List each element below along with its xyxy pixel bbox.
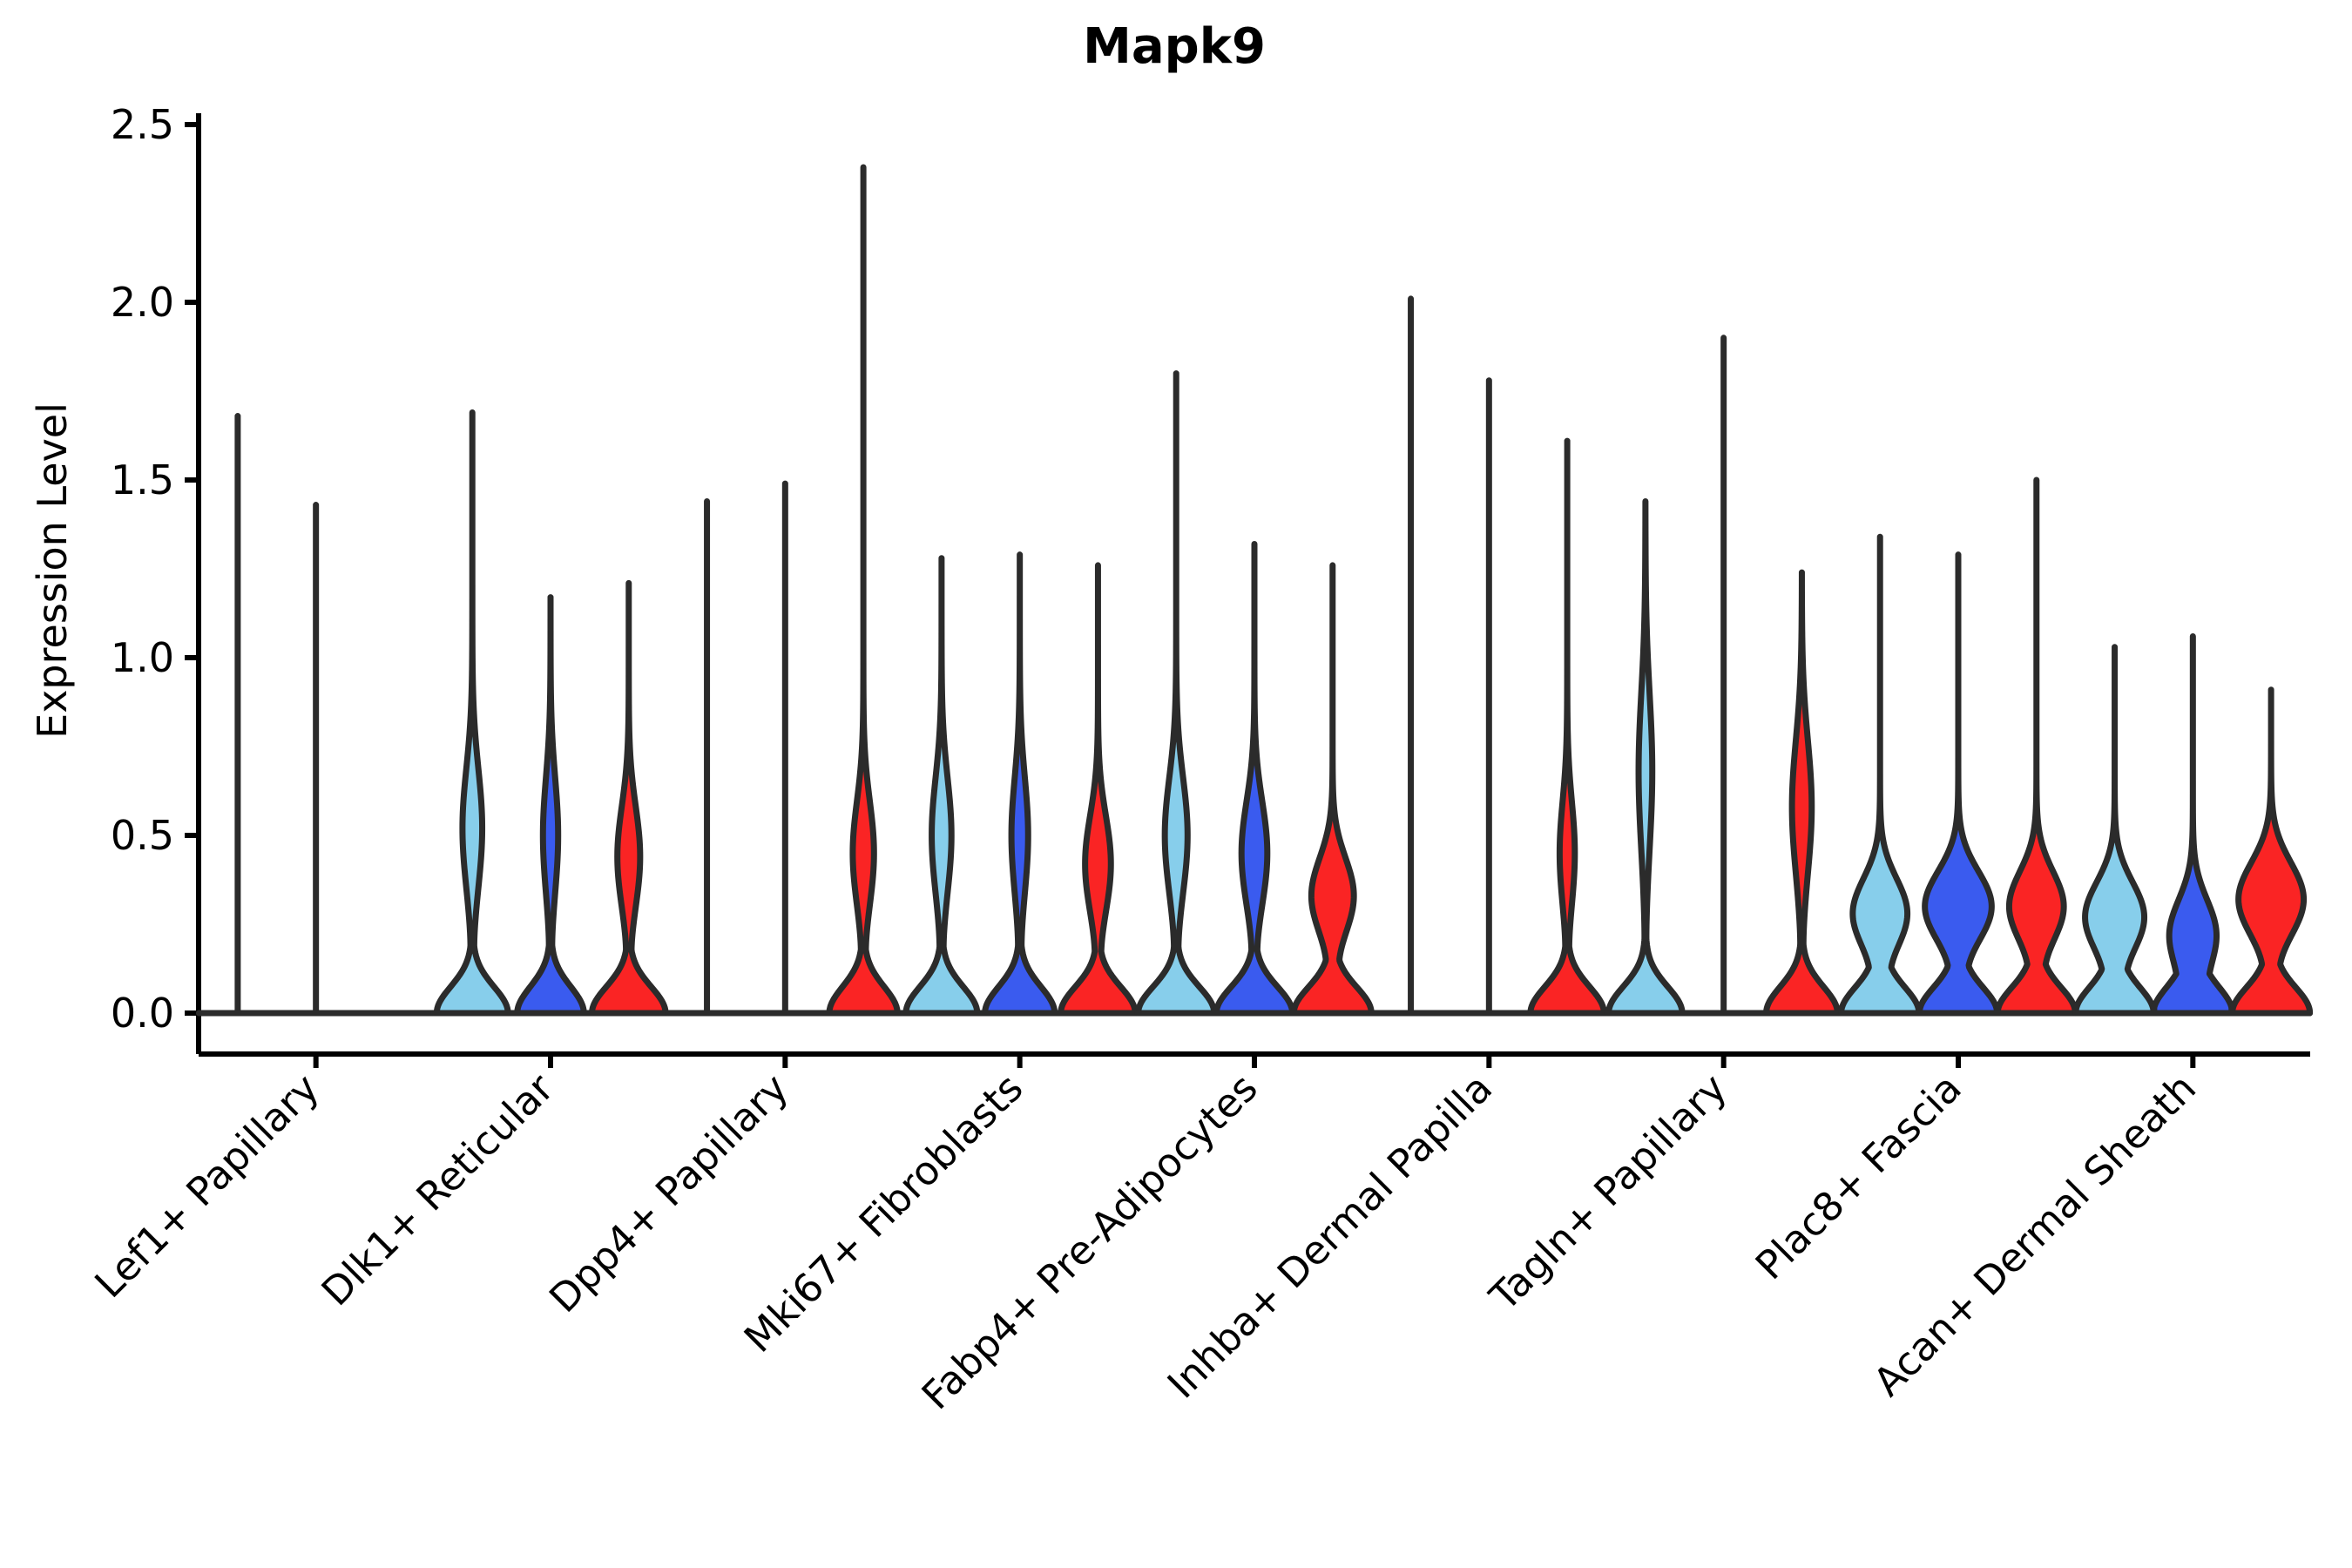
x-tick-label: Lef1+ Papillary <box>86 1064 328 1307</box>
y-tick-label: 2.0 <box>111 279 174 326</box>
violin-plot-svg: Mapk9 Expression Level 0.00.51.01.52.02.… <box>0 0 2352 1568</box>
y-axis-group: 0.00.51.01.52.02.5 <box>111 101 199 1054</box>
y-tick-label: 1.5 <box>111 456 174 504</box>
violin-shape[interactable] <box>1061 565 1135 1013</box>
violin-shape[interactable] <box>517 598 584 1013</box>
violin-shape[interactable] <box>436 412 508 1013</box>
violin-shape[interactable] <box>1216 544 1292 1013</box>
violin-shape[interactable] <box>1842 537 1919 1013</box>
figure-root: Mapk9 Expression Level 0.00.51.01.52.02.… <box>0 0 2352 1568</box>
plot-title-group: Mapk9 <box>1083 18 1266 75</box>
y-axis-label: Expression Level <box>29 402 76 739</box>
violin-shape[interactable] <box>985 555 1055 1013</box>
violin-shape[interactable] <box>1531 441 1604 1013</box>
plot-title: Mapk9 <box>1083 18 1266 75</box>
violin-shape[interactable] <box>1139 374 1214 1013</box>
violins-group <box>199 167 2309 1013</box>
y-tick-label: 1.0 <box>111 634 174 681</box>
y-axis-label-group: Expression Level <box>29 402 76 739</box>
y-tick-label: 0.5 <box>111 812 174 859</box>
x-tick-label: Dlk1+ Reticular <box>313 1064 563 1315</box>
violin-shape[interactable] <box>1920 555 1997 1013</box>
x-tick-label: Plac8+ Fascia <box>1747 1064 1970 1288</box>
violin-shape[interactable] <box>1997 480 2075 1013</box>
violin-shape[interactable] <box>1767 572 1838 1013</box>
violin-shape[interactable] <box>829 167 897 1013</box>
violin-shape[interactable] <box>2076 647 2153 1013</box>
violin-shape[interactable] <box>1609 501 1682 1013</box>
x-axis-group <box>199 1054 2310 1068</box>
violin-shape[interactable] <box>2154 637 2232 1013</box>
violin-shape[interactable] <box>906 558 977 1013</box>
x-tick-labels-group: Lef1+ PapillaryDlk1+ ReticularDpp4+ Papi… <box>86 1064 2206 1418</box>
x-tick-label: Dpp4+ Papillary <box>540 1064 797 1321</box>
violin-shape[interactable] <box>1294 565 1371 1013</box>
violin-shape[interactable] <box>592 583 666 1013</box>
x-tick-label: Tagln+ Papillary <box>1480 1064 1735 1320</box>
y-tick-label: 0.0 <box>111 990 174 1037</box>
y-tick-label: 2.5 <box>111 101 174 148</box>
violin-shape[interactable] <box>2233 690 2310 1013</box>
